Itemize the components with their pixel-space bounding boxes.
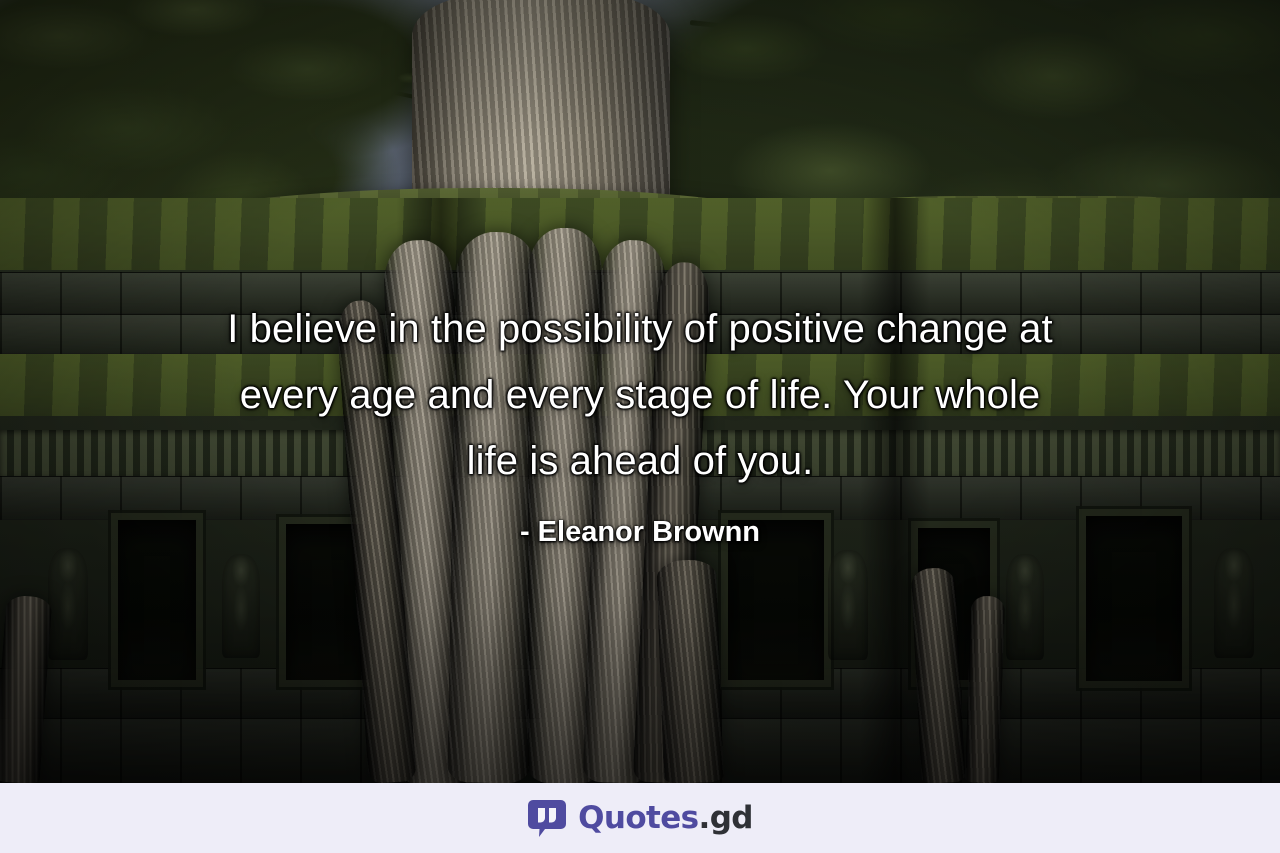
apsara-carving [222, 554, 260, 658]
brand-link[interactable]: Quotes.gd [527, 798, 753, 838]
site-footer: Quotes.gd [0, 783, 1280, 853]
tree-root-column [656, 559, 724, 783]
quote-bubble-icon [527, 798, 567, 838]
brand-wordmark: Quotes.gd [578, 803, 753, 834]
brand-tld: .gd [699, 800, 753, 836]
apsara-carving [48, 548, 88, 660]
background-photo: I believe in the possibility of positive… [0, 0, 1280, 783]
quote-author: - Eleanor Brownn [70, 516, 1210, 549]
apsara-carving [1214, 548, 1254, 658]
quote-image-page: I believe in the possibility of positive… [0, 0, 1280, 853]
quote-block: I believe in the possibility of positive… [0, 296, 1280, 549]
brand-name: Quotes [578, 800, 698, 836]
quote-text: I believe in the possibility of positive… [70, 296, 1210, 494]
tree-root-column [965, 595, 1006, 783]
apsara-carving [1006, 554, 1044, 660]
